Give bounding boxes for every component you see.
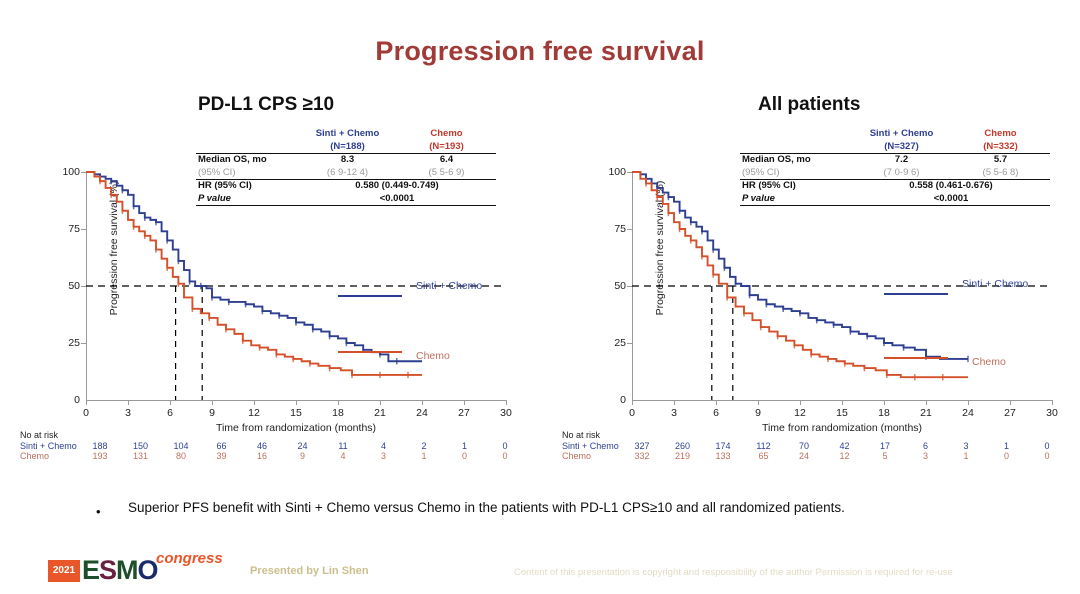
x-axis-tick-mark — [128, 400, 129, 405]
y-axis-tick-label: 50 — [614, 280, 626, 292]
slide-footer: 2021 ESMO congress Presented by Lin Shen… — [0, 542, 1080, 594]
curve-label-chemo: Chemo — [972, 356, 1006, 368]
curve-label-sinti: Sinti + Chemo — [416, 280, 482, 292]
y-axis-tick-mark — [627, 229, 632, 230]
curve-label-chemo: Chemo — [416, 350, 450, 362]
col-header-sinti: Sinti + Chemo — [298, 128, 397, 141]
page-title: Progression free survival — [0, 36, 1080, 67]
x-axis-tick-label: 27 — [1004, 407, 1016, 419]
at-risk-value: 0 — [502, 451, 507, 461]
at-risk-value: 0 — [502, 441, 507, 451]
x-axis-tick-mark — [674, 400, 675, 405]
col-header-sinti: Sinti + Chemo — [852, 128, 951, 141]
x-axis-tick-mark — [170, 400, 171, 405]
panel-all-patients: All patients Sinti + Chemo Chemo (N=327)… — [540, 84, 1060, 474]
bullet-marker-icon: • — [96, 504, 101, 519]
x-axis-label: Time from randomization (months) — [632, 422, 1052, 434]
at-risk-value: 24 — [297, 441, 307, 451]
at-risk-value: 11 — [338, 441, 347, 451]
median-os-sinti: 8.3 — [298, 154, 397, 167]
at-risk-title: No at risk — [20, 430, 58, 440]
x-axis-tick-label: 15 — [290, 407, 302, 419]
copyright-notice: Content of this presentation is copyrigh… — [514, 567, 953, 578]
at-risk-value: 0 — [1004, 451, 1009, 461]
km-curve-chemo — [632, 172, 968, 377]
logo-congress-text: congress — [156, 550, 223, 567]
at-risk-value: 5 — [882, 451, 887, 461]
at-risk-value: 42 — [839, 441, 849, 451]
at-risk-value: 39 — [216, 451, 226, 461]
x-axis-tick-mark — [716, 400, 717, 405]
km-curve-sinti — [86, 172, 422, 361]
at-risk-value: 17 — [880, 441, 890, 451]
y-axis-tick-label: 25 — [68, 337, 80, 349]
x-axis-tick-mark — [1052, 400, 1053, 405]
x-axis-tick-mark — [800, 400, 801, 405]
median-os-chemo: 6.4 — [397, 154, 496, 167]
x-axis-tick-label: 21 — [374, 407, 386, 419]
x-axis-tick-label: 15 — [836, 407, 848, 419]
at-risk-value: 70 — [799, 441, 809, 451]
x-axis-label: Time from randomization (months) — [86, 422, 506, 434]
y-axis-tick-mark — [81, 343, 86, 344]
x-axis-tick-mark — [212, 400, 213, 405]
at-risk-value: 2 — [421, 441, 426, 451]
at-risk-value: 9 — [300, 451, 305, 461]
x-axis-tick-label: 0 — [83, 407, 89, 419]
x-axis-tick-mark — [884, 400, 885, 405]
x-axis-tick-label: 6 — [713, 407, 719, 419]
table-row: (N=188) (N=193) — [196, 141, 496, 154]
at-risk-value: 260 — [675, 441, 690, 451]
logo-wordmark: ESMO — [82, 556, 158, 584]
x-axis-tick-mark — [254, 400, 255, 405]
x-axis-tick-label: 3 — [125, 407, 131, 419]
at-risk-value: 1 — [462, 441, 467, 451]
logo-letter-e: E — [82, 555, 99, 585]
at-risk-value: 332 — [634, 451, 649, 461]
row-label-median-os: Median OS, mo — [740, 154, 852, 167]
x-axis-tick-mark — [464, 400, 465, 405]
at-risk-value: 66 — [216, 441, 226, 451]
panel-heading: PD-L1 CPS ≥10 — [198, 94, 498, 116]
at-risk-value: 219 — [675, 451, 690, 461]
x-axis-tick-label: 6 — [167, 407, 173, 419]
table-row: Median OS, mo 8.3 6.4 — [196, 154, 496, 167]
table-row: Median OS, mo 7.2 5.7 — [740, 154, 1050, 167]
x-axis-tick-label: 24 — [416, 407, 428, 419]
x-axis-tick-label: 0 — [629, 407, 635, 419]
x-axis-tick-mark — [968, 400, 969, 405]
at-risk-value: 104 — [173, 441, 188, 451]
at-risk-value: 3 — [963, 441, 968, 451]
logo-letter-s: S — [99, 555, 116, 585]
x-axis-tick-label: 12 — [794, 407, 806, 419]
x-axis-tick-label: 24 — [962, 407, 974, 419]
x-axis-tick-mark — [926, 400, 927, 405]
at-risk-value: 150 — [133, 441, 148, 451]
at-risk-value: 80 — [176, 451, 186, 461]
x-axis-tick-label: 21 — [920, 407, 932, 419]
table-row: Sinti + Chemo Chemo — [740, 128, 1050, 141]
y-axis-tick-label: 75 — [68, 223, 80, 235]
x-axis-tick-label: 12 — [248, 407, 260, 419]
row-label-median-os: Median OS, mo — [196, 154, 298, 167]
at-risk-value: 0 — [462, 451, 467, 461]
at-risk-arm-label: Chemo — [562, 451, 591, 461]
y-axis-tick-mark — [81, 172, 86, 173]
at-risk-value: 188 — [92, 441, 107, 451]
y-axis-tick-label: 50 — [68, 280, 80, 292]
panel-heading: All patients — [758, 94, 1058, 116]
at-risk-value: 327 — [634, 441, 649, 451]
col-header-chemo: Chemo — [951, 128, 1050, 141]
y-axis-tick-label: 0 — [74, 394, 80, 406]
at-risk-value: 12 — [839, 451, 849, 461]
at-risk-value: 46 — [257, 441, 267, 451]
logo-year: 2021 — [48, 560, 80, 582]
x-axis-tick-mark — [842, 400, 843, 405]
at-risk-value: 0 — [1044, 451, 1049, 461]
median-os-chemo: 5.7 — [951, 154, 1050, 167]
table-row: (N=327) (N=332) — [740, 141, 1050, 154]
km-curve-sinti — [632, 172, 968, 359]
at-risk-value: 131 — [133, 451, 148, 461]
km-plot-all: Progression free survival (%) Time from … — [632, 172, 1052, 400]
x-axis-tick-mark — [758, 400, 759, 405]
panel-pdl1-cps10: PD-L1 CPS ≥10 Sinti + Chemo Chemo (N=188… — [8, 84, 528, 474]
col-header-chemo-n: (N=193) — [397, 141, 496, 154]
table-row: Sinti + Chemo Chemo — [196, 128, 496, 141]
at-risk-value: 4 — [340, 451, 345, 461]
x-axis-tick-mark — [422, 400, 423, 405]
y-axis-tick-mark — [627, 343, 632, 344]
at-risk-value: 4 — [381, 441, 386, 451]
y-axis-tick-label: 25 — [614, 337, 626, 349]
col-header-chemo: Chemo — [397, 128, 496, 141]
at-risk-value: 1 — [963, 451, 968, 461]
at-risk-value: 3 — [381, 451, 386, 461]
y-axis-tick-label: 75 — [614, 223, 626, 235]
logo-letter-o: O — [138, 555, 158, 585]
x-axis-tick-label: 9 — [209, 407, 215, 419]
at-risk-value: 193 — [92, 451, 107, 461]
x-axis-tick-mark — [380, 400, 381, 405]
km-curve-chemo — [86, 172, 422, 375]
col-header-sinti-n: (N=188) — [298, 141, 397, 154]
logo-letter-m: M — [116, 555, 138, 585]
at-risk-value: 24 — [799, 451, 809, 461]
y-axis-tick-mark — [81, 229, 86, 230]
x-axis-tick-mark — [1010, 400, 1011, 405]
at-risk-value: 6 — [923, 441, 928, 451]
x-axis-tick-mark — [338, 400, 339, 405]
at-risk-value: 112 — [756, 441, 770, 451]
at-risk-value: 16 — [257, 451, 267, 461]
at-risk-value: 1 — [421, 451, 426, 461]
at-risk-value: 174 — [715, 441, 730, 451]
slide: Progression free survival PD-L1 CPS ≥10 … — [0, 0, 1080, 594]
median-os-sinti: 7.2 — [852, 154, 951, 167]
x-axis-tick-mark — [632, 400, 633, 405]
y-axis-tick-label: 0 — [620, 394, 626, 406]
x-axis-tick-label: 18 — [332, 407, 344, 419]
x-axis-tick-label: 3 — [671, 407, 677, 419]
at-risk-value: 3 — [923, 451, 928, 461]
km-plot-pdl1: Progression free survival (%) Time from … — [86, 172, 506, 400]
x-axis-tick-mark — [86, 400, 87, 405]
at-risk-arm-label: Sinti + Chemo — [20, 441, 77, 451]
x-axis-tick-mark — [296, 400, 297, 405]
bullet-text: Superior PFS benefit with Sinti + Chemo … — [128, 500, 845, 515]
at-risk-arm-label: Sinti + Chemo — [562, 441, 619, 451]
y-axis-tick-mark — [81, 286, 86, 287]
at-risk-value: 0 — [1044, 441, 1049, 451]
y-axis-tick-label: 100 — [62, 166, 80, 178]
at-risk-value: 133 — [715, 451, 730, 461]
at-risk-value: 65 — [758, 451, 768, 461]
y-axis-tick-label: 100 — [608, 166, 626, 178]
x-axis-tick-label: 9 — [755, 407, 761, 419]
x-axis-tick-label: 30 — [500, 407, 512, 419]
x-axis-tick-label: 30 — [1046, 407, 1058, 419]
curve-label-sinti: Sinti + Chemo — [962, 278, 1028, 290]
x-axis-tick-mark — [506, 400, 507, 405]
presented-by: Presented by Lin Shen — [250, 565, 369, 577]
at-risk-value: 1 — [1004, 441, 1009, 451]
y-axis-tick-mark — [627, 286, 632, 287]
at-risk-title: No at risk — [562, 430, 600, 440]
x-axis-tick-label: 27 — [458, 407, 470, 419]
col-header-chemo-n: (N=332) — [951, 141, 1050, 154]
x-axis-tick-label: 18 — [878, 407, 890, 419]
y-axis-tick-mark — [627, 172, 632, 173]
at-risk-arm-label: Chemo — [20, 451, 49, 461]
col-header-sinti-n: (N=327) — [852, 141, 951, 154]
